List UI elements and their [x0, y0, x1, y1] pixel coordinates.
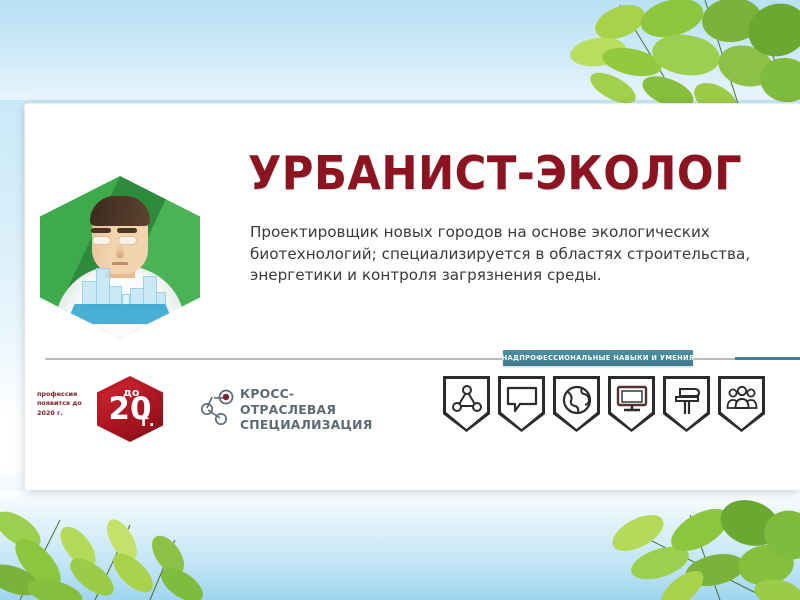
cross-industry-line2: СПЕЦИАЛИЗАЦИЯ — [240, 417, 380, 433]
years-badge-caption: профессия появится до 2020 г. — [37, 390, 95, 418]
avatar-hair — [90, 196, 150, 226]
profession-card: УРБАНИСТ-ЭКОЛОГ Проектировщик новых горо… — [25, 104, 800, 490]
page-title: УРБАНИСТ-ЭКОЛОГ — [248, 146, 742, 200]
people-group-icon — [726, 385, 758, 413]
cross-industry-block: КРОСС-ОТРАСЛЕВАЯ СПЕЦИАЛИЗАЦИЯ — [200, 382, 380, 434]
avatar-eye-left — [92, 236, 111, 245]
globe-icon — [562, 385, 592, 415]
skills-banner-label: НАДПРОФЕССИОНАЛЬНЫЕ НАВЫКИ И УМЕНИЯ — [502, 354, 695, 362]
cross-industry-label: КРОСС-ОТРАСЛЕВАЯ СПЕЦИАЛИЗАЦИЯ — [240, 386, 380, 433]
cross-industry-line1: КРОСС-ОТРАСЛЕВАЯ — [240, 386, 380, 417]
avatar-eyebrow-right — [117, 228, 137, 233]
profession-description: Проектировщик новых городов на основе эк… — [250, 222, 760, 287]
machine-press-icon — [671, 385, 703, 415]
systems-thinking-triangle-icon — [452, 385, 482, 413]
skill-systems-thinking[interactable] — [443, 376, 490, 432]
hologram-city-icon — [66, 270, 174, 324]
avatar-mouth — [112, 262, 128, 265]
skill-production[interactable] — [663, 376, 710, 432]
avatar-eyebrow-left — [91, 228, 111, 233]
skill-multilingual[interactable] — [553, 376, 600, 432]
years-badge: профессия появится до 2020 г. до 20 г. — [37, 376, 187, 442]
skill-teamwork[interactable] — [718, 376, 765, 432]
avatar — [40, 176, 200, 338]
avatar-nose — [117, 244, 124, 258]
years-badge-unit: г. — [141, 412, 155, 430]
foliage-bottom-left — [0, 485, 300, 600]
skill-programming[interactable] — [608, 376, 655, 432]
divider-accent — [735, 357, 800, 360]
speech-bubble-icon — [506, 385, 538, 413]
foliage-bottom-right — [510, 485, 800, 600]
skills-banner: НАДПРОФЕССИОНАЛЬНЫЕ НАВЫКИ И УМЕНИЯ — [503, 350, 693, 366]
monitor-icon — [616, 385, 648, 413]
molecule-nodes-icon — [200, 388, 236, 426]
foliage-top-right — [500, 0, 800, 115]
avatar-person-illustration — [40, 176, 200, 338]
skill-communication[interactable] — [498, 376, 545, 432]
skills-icon-row — [443, 376, 773, 436]
